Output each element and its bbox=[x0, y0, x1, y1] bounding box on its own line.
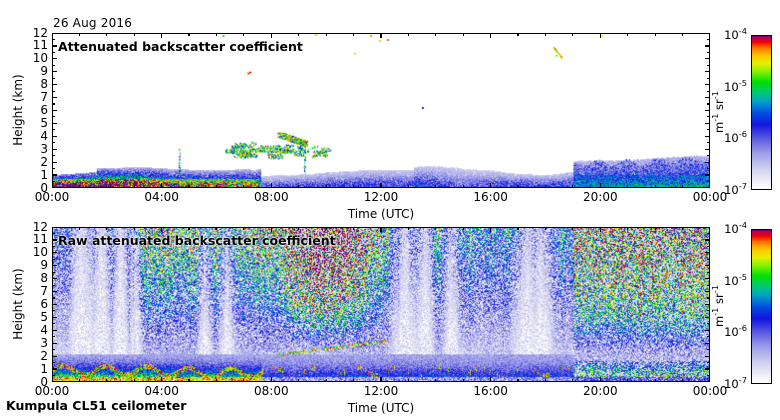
heatmap-raw-attenuated bbox=[53, 228, 709, 381]
x-minor-tick bbox=[572, 227, 573, 230]
y-minor-tick bbox=[52, 78, 55, 79]
y-tick bbox=[705, 58, 710, 59]
x-minor-tick bbox=[408, 33, 409, 36]
y-minor-tick bbox=[52, 155, 55, 156]
x-minor-tick bbox=[435, 379, 436, 382]
y-tick-label: 11 bbox=[26, 39, 48, 51]
x-minor-tick bbox=[463, 379, 464, 382]
x-minor-tick bbox=[298, 379, 299, 382]
x-minor-tick bbox=[79, 379, 80, 382]
x-tick bbox=[380, 183, 381, 188]
y-tick-label: 9 bbox=[26, 65, 48, 77]
y-minor-tick bbox=[707, 155, 710, 156]
x-minor-tick bbox=[134, 379, 135, 382]
y-tick-label: 12 bbox=[26, 27, 48, 39]
y-tick bbox=[705, 162, 710, 163]
x-tick-label: 00:00 bbox=[22, 385, 82, 397]
x-minor-tick bbox=[79, 185, 80, 188]
x-minor-tick bbox=[408, 227, 409, 230]
y-tick-label: 6 bbox=[26, 104, 48, 116]
y-minor-tick bbox=[707, 168, 710, 169]
y-tick bbox=[705, 174, 710, 175]
y-tick-label: 2 bbox=[26, 350, 48, 362]
y-tick-label: 3 bbox=[26, 143, 48, 155]
x-tick bbox=[52, 33, 53, 38]
y-tick bbox=[705, 149, 710, 150]
y-tick bbox=[705, 356, 710, 357]
x-minor-tick bbox=[517, 33, 518, 36]
x-minor-tick bbox=[682, 227, 683, 230]
x-minor-tick bbox=[188, 227, 189, 230]
x-minor-tick bbox=[134, 227, 135, 230]
x-tick bbox=[271, 183, 272, 188]
x-minor-tick bbox=[545, 33, 546, 36]
x-minor-tick bbox=[188, 185, 189, 188]
x-minor-tick bbox=[627, 227, 628, 230]
y-minor-tick bbox=[52, 362, 55, 363]
x-minor-tick bbox=[682, 185, 683, 188]
colorbar-units-label: m-1 sr-1 bbox=[712, 266, 726, 346]
y-tick-label: 8 bbox=[26, 78, 48, 90]
colorbar-raw-attenuated bbox=[751, 229, 772, 384]
y-tick bbox=[52, 45, 57, 46]
x-tick bbox=[52, 183, 53, 188]
y-minor-tick bbox=[707, 78, 710, 79]
x-minor-tick bbox=[326, 227, 327, 230]
colorbar-units-label: m-1 sr-1 bbox=[712, 72, 726, 152]
y-minor-tick bbox=[52, 168, 55, 169]
x-minor-tick bbox=[243, 185, 244, 188]
colorbar-gradient bbox=[752, 36, 771, 189]
y-tick-label: 2 bbox=[26, 156, 48, 168]
x-minor-tick bbox=[655, 33, 656, 36]
y-tick bbox=[705, 45, 710, 46]
y-tick bbox=[52, 58, 57, 59]
x-tick bbox=[380, 377, 381, 382]
y-minor-tick bbox=[52, 52, 55, 53]
x-minor-tick bbox=[435, 227, 436, 230]
x-tick-label: 04:00 bbox=[132, 385, 192, 397]
y-tick-label: 10 bbox=[26, 246, 48, 258]
y-axis-title: Height (km) bbox=[11, 70, 25, 150]
y-tick-label: 8 bbox=[26, 272, 48, 284]
y-minor-tick bbox=[52, 246, 55, 247]
y-tick-label: 6 bbox=[26, 298, 48, 310]
x-axis-title: Time (UTC) bbox=[341, 401, 421, 415]
y-tick-label: 5 bbox=[26, 311, 48, 323]
x-minor-tick bbox=[79, 227, 80, 230]
x-tick-label: 08:00 bbox=[241, 191, 301, 203]
x-minor-tick bbox=[572, 33, 573, 36]
y-tick bbox=[52, 84, 57, 85]
y-tick bbox=[705, 368, 710, 369]
y-tick-label: 9 bbox=[26, 259, 48, 271]
x-tick bbox=[52, 377, 53, 382]
y-tick bbox=[52, 278, 57, 279]
x-tick bbox=[490, 227, 491, 232]
y-minor-tick bbox=[52, 103, 55, 104]
x-tick bbox=[52, 227, 53, 232]
y-minor-tick bbox=[52, 272, 55, 273]
y-minor-tick bbox=[52, 181, 55, 182]
y-tick bbox=[52, 136, 57, 137]
x-minor-tick bbox=[463, 185, 464, 188]
x-tick bbox=[600, 377, 601, 382]
y-tick bbox=[705, 110, 710, 111]
y-tick bbox=[705, 252, 710, 253]
x-minor-tick bbox=[106, 185, 107, 188]
y-minor-tick bbox=[52, 349, 55, 350]
y-minor-tick bbox=[707, 349, 710, 350]
x-minor-tick bbox=[655, 379, 656, 382]
x-minor-tick bbox=[435, 33, 436, 36]
x-minor-tick bbox=[216, 185, 217, 188]
x-tick bbox=[271, 377, 272, 382]
y-tick bbox=[705, 343, 710, 344]
x-tick-label: 20:00 bbox=[570, 385, 630, 397]
y-minor-tick bbox=[52, 375, 55, 376]
y-tick-label: 5 bbox=[26, 117, 48, 129]
y-minor-tick bbox=[707, 181, 710, 182]
y-tick bbox=[52, 174, 57, 175]
x-minor-tick bbox=[408, 185, 409, 188]
x-minor-tick bbox=[326, 379, 327, 382]
x-tick bbox=[271, 227, 272, 232]
y-tick-label: 4 bbox=[26, 130, 48, 142]
y-tick bbox=[52, 356, 57, 357]
y-tick bbox=[52, 343, 57, 344]
x-minor-tick bbox=[572, 185, 573, 188]
x-tick-label: 04:00 bbox=[132, 191, 192, 203]
x-tick bbox=[380, 227, 381, 232]
x-tick bbox=[161, 377, 162, 382]
x-minor-tick bbox=[326, 185, 327, 188]
x-minor-tick bbox=[627, 379, 628, 382]
y-tick bbox=[52, 330, 57, 331]
y-tick bbox=[52, 317, 57, 318]
y-axis-title: Height (km) bbox=[11, 264, 25, 344]
y-tick-label: 4 bbox=[26, 324, 48, 336]
x-tick-label: 08:00 bbox=[241, 385, 301, 397]
x-minor-tick bbox=[682, 379, 683, 382]
x-minor-tick bbox=[188, 33, 189, 36]
x-minor-tick bbox=[655, 227, 656, 230]
y-tick-label: 10 bbox=[26, 52, 48, 64]
y-minor-tick bbox=[707, 129, 710, 130]
x-minor-tick bbox=[134, 33, 135, 36]
x-minor-tick bbox=[545, 379, 546, 382]
x-tick bbox=[490, 377, 491, 382]
y-tick-label: 1 bbox=[26, 169, 48, 181]
y-minor-tick bbox=[52, 336, 55, 337]
x-minor-tick bbox=[545, 227, 546, 230]
x-tick-label: 00:00 bbox=[22, 191, 82, 203]
panel-title-raw-attenuated: Raw attenuated backscatter coefficient bbox=[58, 233, 336, 248]
y-minor-tick bbox=[52, 39, 55, 40]
x-minor-tick bbox=[298, 33, 299, 36]
y-tick bbox=[52, 368, 57, 369]
y-minor-tick bbox=[707, 259, 710, 260]
x-minor-tick bbox=[408, 379, 409, 382]
y-minor-tick bbox=[707, 323, 710, 324]
y-tick bbox=[52, 291, 57, 292]
x-minor-tick bbox=[216, 227, 217, 230]
x-minor-tick bbox=[326, 33, 327, 36]
y-minor-tick bbox=[52, 129, 55, 130]
x-minor-tick bbox=[106, 227, 107, 230]
y-tick bbox=[705, 239, 710, 240]
y-tick bbox=[52, 123, 57, 124]
y-tick-label: 3 bbox=[26, 337, 48, 349]
x-minor-tick bbox=[243, 379, 244, 382]
y-tick-label: 11 bbox=[26, 233, 48, 245]
x-minor-tick bbox=[517, 379, 518, 382]
y-minor-tick bbox=[707, 297, 710, 298]
x-tick bbox=[271, 33, 272, 38]
x-minor-tick bbox=[106, 379, 107, 382]
x-tick bbox=[161, 33, 162, 38]
y-tick bbox=[705, 71, 710, 72]
y-minor-tick bbox=[52, 65, 55, 66]
x-minor-tick bbox=[216, 379, 217, 382]
y-minor-tick bbox=[707, 362, 710, 363]
y-tick bbox=[52, 149, 57, 150]
x-tick-label: 12:00 bbox=[351, 191, 411, 203]
x-minor-tick bbox=[353, 33, 354, 36]
x-minor-tick bbox=[353, 379, 354, 382]
y-minor-tick bbox=[707, 246, 710, 247]
x-minor-tick bbox=[79, 33, 80, 36]
x-minor-tick bbox=[545, 185, 546, 188]
y-minor-tick bbox=[707, 103, 710, 104]
y-tick bbox=[52, 110, 57, 111]
x-minor-tick bbox=[517, 185, 518, 188]
y-minor-tick bbox=[707, 272, 710, 273]
heatmap-attenuated bbox=[53, 34, 709, 187]
x-minor-tick bbox=[435, 185, 436, 188]
y-tick-label: 1 bbox=[26, 363, 48, 375]
y-minor-tick bbox=[707, 52, 710, 53]
x-minor-tick bbox=[216, 33, 217, 36]
panel-title-attenuated: Attenuated backscatter coefficient bbox=[58, 39, 303, 54]
x-minor-tick bbox=[106, 33, 107, 36]
y-minor-tick bbox=[52, 259, 55, 260]
figure-root: 26 Aug 2016 Attenuated backscatter coeff… bbox=[0, 0, 780, 420]
y-tick bbox=[52, 239, 57, 240]
x-tick bbox=[161, 227, 162, 232]
y-tick bbox=[52, 162, 57, 163]
y-minor-tick bbox=[52, 142, 55, 143]
x-minor-tick bbox=[627, 185, 628, 188]
x-minor-tick bbox=[353, 227, 354, 230]
colorbar-tick-label: 10-7 bbox=[709, 377, 747, 391]
y-tick-label: 12 bbox=[26, 221, 48, 233]
y-tick bbox=[705, 304, 710, 305]
x-tick bbox=[600, 183, 601, 188]
x-minor-tick bbox=[463, 227, 464, 230]
x-tick bbox=[490, 183, 491, 188]
colorbar-gradient bbox=[752, 230, 771, 383]
x-tick bbox=[600, 227, 601, 232]
x-minor-tick bbox=[188, 379, 189, 382]
y-minor-tick bbox=[52, 233, 55, 234]
y-minor-tick bbox=[52, 91, 55, 92]
y-tick bbox=[52, 304, 57, 305]
panel-raw-attenuated-backscatter: Raw attenuated backscatter coefficient bbox=[52, 227, 710, 382]
x-minor-tick bbox=[572, 379, 573, 382]
x-minor-tick bbox=[243, 33, 244, 36]
x-minor-tick bbox=[627, 33, 628, 36]
colorbar-attenuated bbox=[751, 35, 772, 190]
x-tick bbox=[380, 33, 381, 38]
x-minor-tick bbox=[298, 227, 299, 230]
x-tick bbox=[161, 183, 162, 188]
x-tick-label: 20:00 bbox=[570, 191, 630, 203]
y-tick bbox=[52, 265, 57, 266]
x-minor-tick bbox=[243, 227, 244, 230]
x-minor-tick bbox=[353, 185, 354, 188]
x-minor-tick bbox=[517, 227, 518, 230]
x-tick bbox=[490, 33, 491, 38]
x-minor-tick bbox=[682, 33, 683, 36]
colorbar-tick-label: 10-4 bbox=[709, 222, 747, 236]
x-tick bbox=[600, 33, 601, 38]
y-minor-tick bbox=[52, 285, 55, 286]
x-tick-label: 16:00 bbox=[461, 191, 521, 203]
y-minor-tick bbox=[52, 116, 55, 117]
x-minor-tick bbox=[463, 33, 464, 36]
y-tick bbox=[705, 265, 710, 266]
y-minor-tick bbox=[52, 310, 55, 311]
x-minor-tick bbox=[298, 185, 299, 188]
y-tick bbox=[52, 97, 57, 98]
x-tick-label: 16:00 bbox=[461, 385, 521, 397]
y-tick bbox=[52, 71, 57, 72]
plot-area-raw[interactable] bbox=[52, 227, 710, 382]
x-axis-title: Time (UTC) bbox=[341, 207, 421, 221]
y-tick bbox=[52, 252, 57, 253]
y-tick bbox=[705, 123, 710, 124]
y-tick-label: 7 bbox=[26, 91, 48, 103]
panel-attenuated-backscatter: Attenuated backscatter coefficient bbox=[52, 33, 710, 188]
y-tick bbox=[705, 317, 710, 318]
y-minor-tick bbox=[707, 65, 710, 66]
colorbar-tick-label: 10-4 bbox=[709, 28, 747, 42]
y-minor-tick bbox=[52, 323, 55, 324]
colorbar-tick-label: 10-7 bbox=[709, 183, 747, 197]
x-minor-tick bbox=[134, 185, 135, 188]
date-label: 26 Aug 2016 bbox=[53, 16, 132, 30]
x-tick-label: 12:00 bbox=[351, 385, 411, 397]
footer-label: Kumpula CL51 ceilometer bbox=[6, 398, 186, 413]
y-tick-label: 7 bbox=[26, 285, 48, 297]
y-minor-tick bbox=[707, 375, 710, 376]
plot-area-attenuated[interactable] bbox=[52, 33, 710, 188]
y-minor-tick bbox=[52, 297, 55, 298]
x-minor-tick bbox=[655, 185, 656, 188]
